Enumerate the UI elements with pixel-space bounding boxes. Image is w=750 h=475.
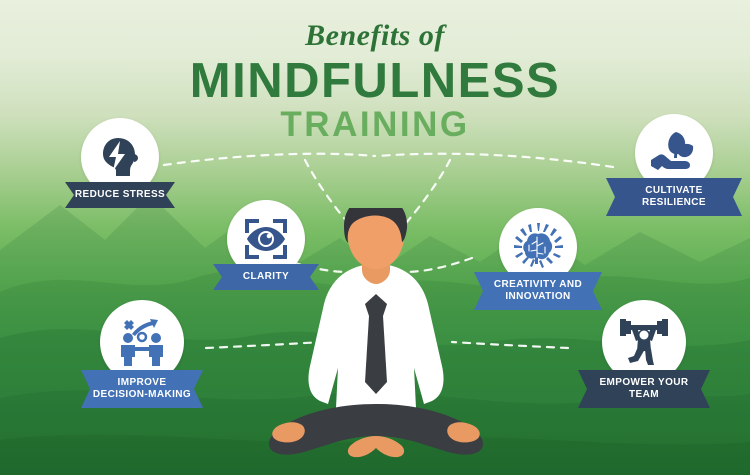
badge-creativity-and-innovation[interactable]: CREATIVITY AND INNOVATION bbox=[466, 208, 610, 310]
badge-label-line-1: CREATIVITY AND bbox=[478, 279, 598, 291]
badge-label-line-1: REDUCE STRESS bbox=[69, 189, 171, 201]
badge-label-line-1: CULTIVATE bbox=[610, 185, 738, 197]
badge-ribbon-empower-your-team: EMPOWER YOUR TEAM bbox=[578, 370, 710, 408]
head-lightning-bolt-icon bbox=[96, 133, 144, 181]
badge-reduce-stress[interactable]: REDUCE STRESS bbox=[46, 118, 194, 208]
hand-holding-leaves-icon bbox=[649, 130, 699, 176]
badge-label-line-2: RESILIENCE bbox=[610, 197, 738, 209]
eye-focus-brackets-icon bbox=[242, 216, 290, 262]
badge-improve-decision-making[interactable]: IMPROVE DECISION-MAKING bbox=[66, 300, 218, 408]
badge-empower-your-team[interactable]: EMPOWER YOUR TEAM bbox=[570, 300, 718, 408]
badge-label-line-1: IMPROVE bbox=[85, 377, 199, 389]
two-people-strategy-arrow-icon bbox=[116, 317, 168, 367]
badge-cultivate-resilience[interactable]: CULTIVATE RESILIENCE bbox=[604, 114, 744, 216]
badge-label-line-2: DECISION-MAKING bbox=[85, 389, 199, 401]
badge-label-line-2: TEAM bbox=[582, 389, 706, 401]
brain-radiating-rays-icon bbox=[512, 222, 564, 272]
badge-clarity[interactable]: CLARITY bbox=[196, 200, 336, 290]
badge-ribbon-reduce-stress: REDUCE STRESS bbox=[65, 182, 175, 208]
badge-ribbon-clarity: CLARITY bbox=[213, 264, 319, 290]
infographic-canvas: Benefits of MINDFULNESS TRAINING bbox=[0, 0, 750, 475]
weightlifter-person-icon bbox=[618, 317, 670, 367]
badge-label-line-1: EMPOWER YOUR bbox=[582, 377, 706, 389]
badge-ribbon-improve-decision-making: IMPROVE DECISION-MAKING bbox=[81, 370, 203, 408]
badge-label-line-1: CLARITY bbox=[217, 271, 315, 283]
badge-ribbon-cultivate-resilience: CULTIVATE RESILIENCE bbox=[606, 178, 742, 216]
